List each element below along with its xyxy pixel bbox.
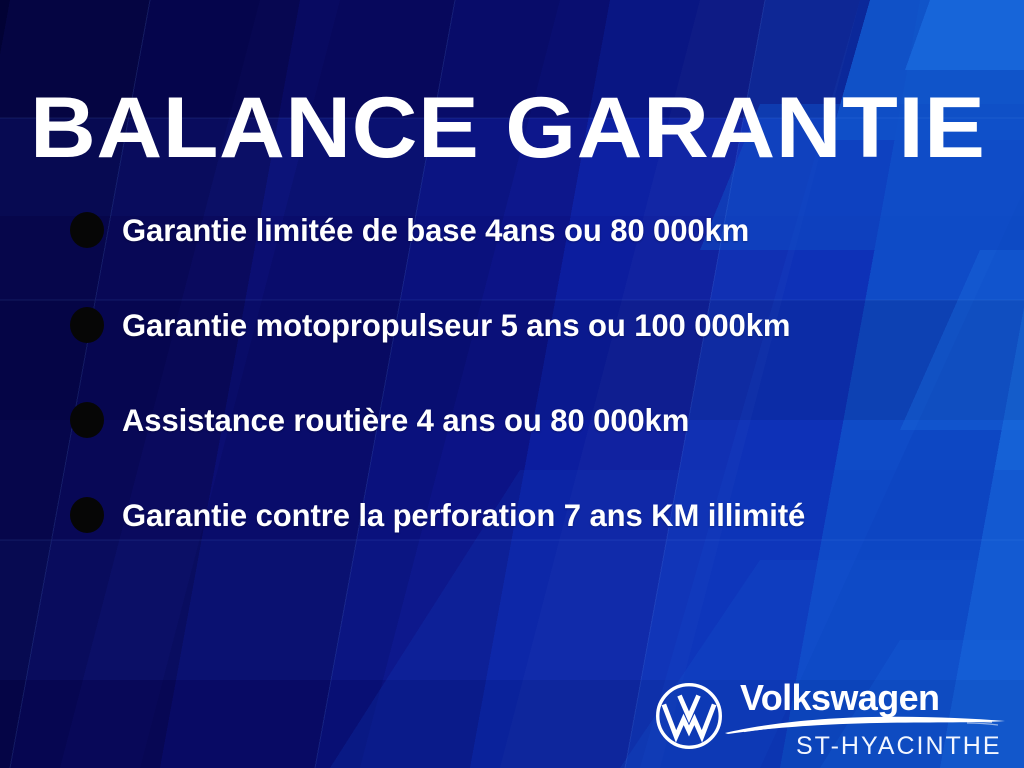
list-item: Garantie limitée de base 4ans ou 80 000k… bbox=[0, 182, 1024, 277]
list-item: Garantie contre la perforation 7 ans KM … bbox=[0, 467, 1024, 562]
list-item-label: Garantie contre la perforation 7 ans KM … bbox=[122, 498, 805, 532]
list-item: Garantie motopropulseur 5 ans ou 100 000… bbox=[0, 277, 1024, 372]
dealer-logo: Volkswagen ST-HYACINTHE bbox=[655, 678, 1015, 764]
slide-canvas: BALANCE GARANTIE Garantie limitée de bas… bbox=[0, 0, 1024, 768]
bullet-dot-icon bbox=[70, 307, 104, 343]
brand-name: Volkswagen bbox=[740, 678, 939, 718]
volkswagen-roundel-icon bbox=[655, 682, 723, 750]
bullet-dot-icon bbox=[70, 212, 104, 248]
list-item-label: Garantie limitée de base 4ans ou 80 000k… bbox=[122, 213, 749, 247]
warranty-list: Garantie limitée de base 4ans ou 80 000k… bbox=[0, 182, 1024, 562]
bullet-dot-icon bbox=[70, 497, 104, 533]
dealer-city-label: ST-HYACINTHE bbox=[796, 732, 1002, 760]
list-item: Assistance routière 4 ans ou 80 000km bbox=[0, 372, 1024, 467]
list-item-label: Assistance routière 4 ans ou 80 000km bbox=[122, 403, 689, 437]
bullet-dot-icon bbox=[70, 402, 104, 438]
list-item-label: Garantie motopropulseur 5 ans ou 100 000… bbox=[122, 308, 790, 342]
volkswagen-wordmark-group: Volkswagen ST-HYACINTHE bbox=[740, 678, 1012, 764]
page-title: BALANCE GARANTIE bbox=[30, 82, 1024, 174]
